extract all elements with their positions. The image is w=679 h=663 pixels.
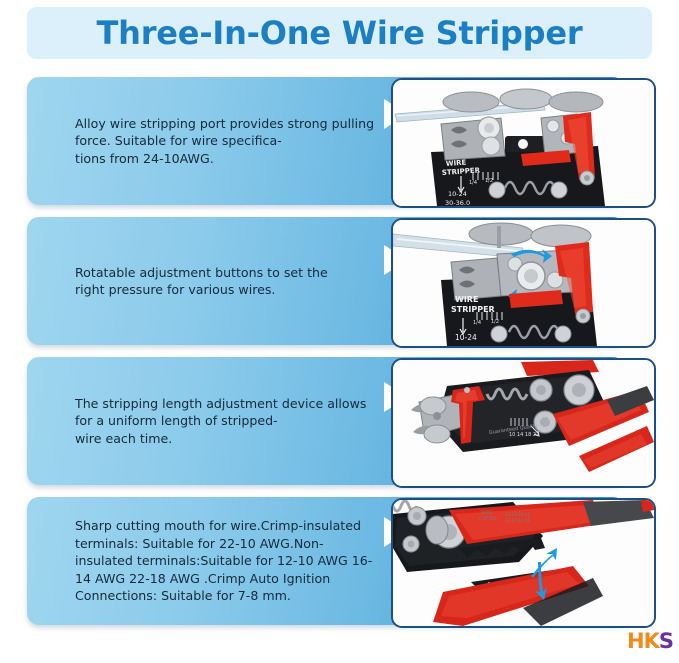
adjustment-knob-closeup: WIRE STRIPPER 10-24 1/4 1/2	[393, 220, 654, 346]
svg-text:CUTTER: CUTTER	[479, 516, 497, 522]
svg-text:WIRE: WIRE	[481, 510, 493, 516]
feature-image-3: 10 14 18 22 Guaranteed Quality	[391, 358, 656, 488]
svg-text:STRIPPER: STRIPPER	[451, 305, 495, 314]
feature-image-4: WIRE CUTTER 22-10 16-14 12-10 22-18	[391, 498, 656, 628]
svg-text:10 14 18 22: 10 14 18 22	[509, 432, 539, 438]
svg-text:1/2: 1/2	[485, 178, 493, 184]
svg-text:1/4: 1/4	[469, 180, 477, 186]
feature-text-2: Rotatable adjustment buttons to set the …	[75, 217, 375, 345]
feature-row-4: Sharp cutting mouth for wire.Crimp-insul…	[0, 497, 679, 625]
page-title: Three-In-One Wire Stripper	[97, 14, 583, 52]
wire-stripper-jaw-closeup: WIRE STRIPPER 10-24 30-36.0 1/4 1/2	[393, 80, 654, 206]
brand-logo-secondary: S	[659, 629, 673, 653]
feature-text-1: Alloy wire stripping port provides stron…	[75, 77, 375, 205]
feature-text-3: The stripping length adjustment device a…	[75, 357, 375, 485]
svg-text:12-10 22-18: 12-10 22-18	[505, 518, 530, 523]
svg-text:10-24: 10-24	[455, 333, 477, 342]
svg-text:22-10 16-14: 22-10 16-14	[505, 512, 530, 517]
feature-row-2: Rotatable adjustment buttons to set the …	[0, 217, 679, 345]
feature-row-1: Alloy wire stripping port provides stron…	[0, 77, 679, 205]
feature-image-2: WIRE STRIPPER 10-24 1/4 1/2	[391, 218, 656, 348]
brand-logo: HKS	[627, 629, 673, 653]
full-tool-side-view: 10 14 18 22 Guaranteed Quality	[393, 360, 654, 486]
crimping-jaws-closeup: WIRE CUTTER 22-10 16-14 12-10 22-18	[393, 500, 654, 626]
svg-text:10-24: 10-24	[448, 190, 467, 198]
infographic-page: Three-In-One Wire Stripper Alloy wire st…	[0, 0, 679, 663]
svg-text:1/4: 1/4	[473, 320, 481, 326]
feature-image-1: WIRE STRIPPER 10-24 30-36.0 1/4 1/2	[391, 78, 656, 208]
feature-row-3: The stripping length adjustment device a…	[0, 357, 679, 485]
feature-text-4: Sharp cutting mouth for wire.Crimp-insul…	[75, 497, 375, 625]
brand-logo-primary: HK	[627, 629, 659, 653]
page-title-bar: Three-In-One Wire Stripper	[27, 7, 652, 59]
svg-text:30-36.0: 30-36.0	[445, 199, 470, 206]
svg-text:WIRE: WIRE	[455, 295, 478, 304]
